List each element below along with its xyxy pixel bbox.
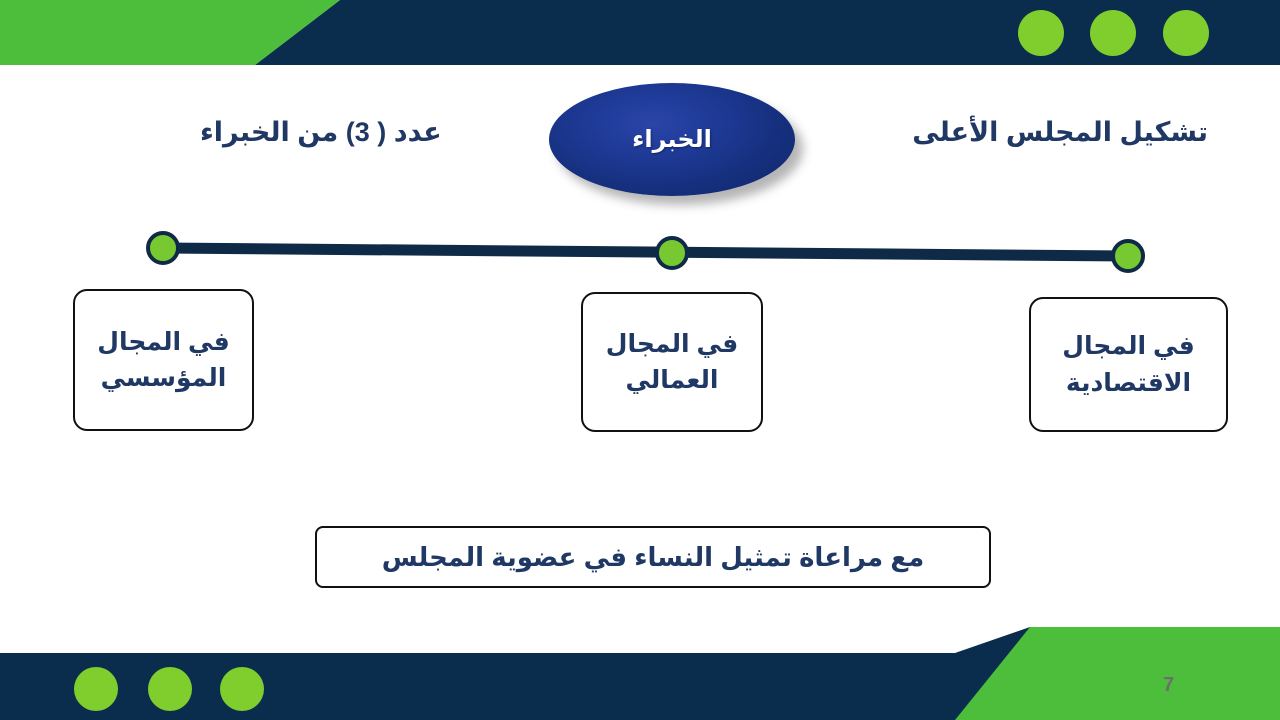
bottom-green-wedge: [955, 627, 1280, 720]
dot-green-icon: [1163, 10, 1209, 56]
dot-green-icon: [1018, 10, 1064, 56]
field-box-line2: الاقتصادية: [1066, 365, 1191, 401]
field-box-line1: في المجال: [97, 324, 229, 360]
page-title: تشكيل المجلس الأعلى: [912, 117, 1208, 148]
field-box-institutional[interactable]: في المجال المؤسسي: [73, 289, 254, 431]
field-box-economic[interactable]: في المجال الاقتصادية: [1029, 297, 1228, 432]
dot-green-icon: [74, 667, 118, 711]
top-green-wedge: [0, 0, 340, 65]
field-box-line2: المؤسسي: [101, 360, 227, 396]
note-text: مع مراعاة تمثيل النساء في عضوية المجلس: [382, 542, 924, 573]
dot-green-icon: [148, 667, 192, 711]
dot-green-icon: [220, 667, 264, 711]
connector-node-left: [146, 231, 180, 265]
experts-count-label: عدد ( 3) من الخبراء: [200, 117, 442, 148]
field-box-line2: العمالي: [626, 362, 719, 398]
experts-ellipse-shape: الخبراء: [549, 83, 795, 196]
connector-node-right: [1111, 239, 1145, 273]
slide-canvas: تشكيل المجلس الأعلى عدد ( 3) من الخبراء …: [0, 0, 1280, 720]
experts-node[interactable]: الخبراء: [549, 83, 795, 196]
field-box-line1: في المجال: [1062, 328, 1194, 364]
page-number: 7: [1163, 674, 1174, 697]
field-box-labor[interactable]: في المجال العمالي: [581, 292, 763, 432]
experts-label: الخبراء: [632, 125, 712, 154]
note-box[interactable]: مع مراعاة تمثيل النساء في عضوية المجلس: [315, 526, 991, 588]
connector-line: [163, 248, 1128, 256]
dot-green-icon: [1090, 10, 1136, 56]
connector-node-middle: [655, 236, 689, 270]
field-box-line1: في المجال: [606, 326, 738, 362]
